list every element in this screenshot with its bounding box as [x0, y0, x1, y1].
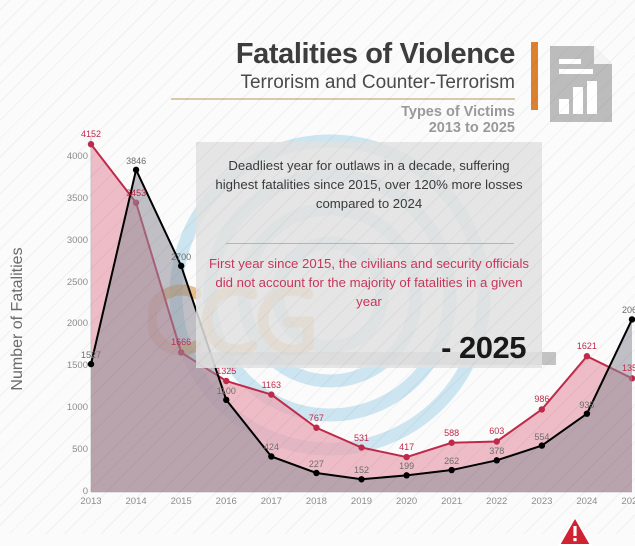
callout-divider [226, 243, 514, 244]
header: Fatalities of Violence Terrorism and Cou… [0, 0, 635, 140]
data-point-label: 2700 [171, 252, 191, 262]
data-point-label: 2060 [622, 305, 635, 315]
data-point-label: 1527 [81, 350, 101, 360]
data-point-label: 1621 [577, 341, 597, 351]
data-point-label: 1357 [622, 363, 635, 373]
callout-box: Deadliest year for outlaws in a decade, … [196, 142, 542, 368]
header-kicker-line1: Types of Victims [401, 104, 515, 120]
page-subtitle: Terrorism and Counter-Terrorism [240, 72, 515, 94]
data-point-label: 227 [309, 459, 324, 469]
data-point-label: 554 [534, 432, 549, 442]
data-point-label: 1100 [217, 386, 236, 396]
document-bar-chart-icon [546, 43, 616, 125]
warning-triangle-icon [558, 516, 592, 546]
data-point-label: 152 [354, 465, 369, 475]
data-point-label: 986 [534, 394, 549, 404]
data-point-label: 3453 [126, 188, 146, 198]
callout-paragraph-2: First year since 2015, the civilians and… [208, 254, 530, 311]
data-point-label: 378 [489, 446, 504, 456]
callout-year: - 2025 [441, 330, 526, 366]
header-accent-bar [531, 42, 538, 110]
data-point-label: 531 [354, 433, 369, 443]
data-point-label: 1666 [171, 337, 191, 347]
header-divider [171, 98, 515, 100]
data-point-label: 588 [444, 428, 459, 438]
data-point-label: 417 [399, 442, 414, 452]
data-point-label: 1163 [262, 380, 281, 390]
data-point-label: 3846 [126, 156, 146, 166]
page-title: Fatalities of Violence [236, 38, 515, 71]
data-point-label: 262 [444, 456, 459, 466]
data-point-label: 935 [579, 400, 594, 410]
data-point-label: 424 [264, 442, 279, 452]
callout-paragraph-1: Deadliest year for outlaws in a decade, … [214, 156, 524, 213]
data-point-label: 199 [399, 461, 414, 471]
header-kicker-line2: 2013 to 2025 [429, 120, 515, 136]
data-point-label: 603 [489, 426, 504, 436]
data-point-label: 767 [309, 413, 324, 423]
